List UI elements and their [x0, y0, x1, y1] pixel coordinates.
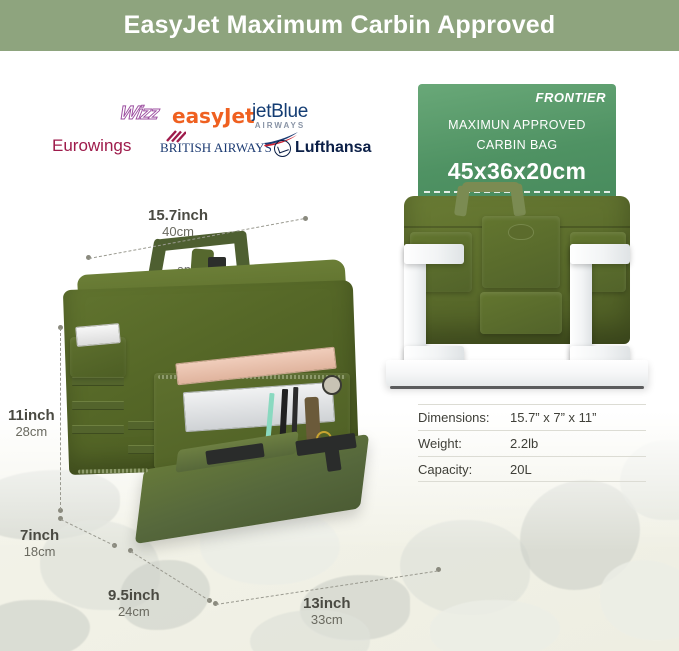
- table-row: Capacity: 20L: [418, 456, 646, 482]
- bag-molle-webbing-row: [72, 377, 124, 386]
- dimension-cm-value: 40cm: [148, 225, 208, 240]
- jetblue-logo: jetBlue AIRWAYS: [252, 101, 308, 130]
- wizz-air-logo: Wizz: [118, 103, 161, 125]
- bag-in-sizer-illustration: [404, 196, 630, 344]
- jetblue-logo-label: jetBlue: [252, 101, 308, 123]
- airline-logos-group: Wizz easyJet jetBlue AIRWAYS Eurowings B…: [52, 98, 372, 190]
- frontier-brand-logo: FRONTIER: [536, 90, 606, 105]
- dimension-inch-value: 9.5inch: [108, 588, 160, 605]
- product-infographic: EasyJet Maximum Carbin Approved Wizz eas…: [0, 0, 679, 651]
- sizer-frame-right-top-arm: [570, 244, 630, 264]
- eurowings-logo: Eurowings: [52, 136, 131, 156]
- spec-key: Dimensions:: [418, 410, 510, 425]
- spec-key: Capacity:: [418, 462, 510, 477]
- dimension-line-height: [60, 328, 61, 510]
- dimension-label-length: 13inch 33cm: [303, 596, 351, 627]
- dimension-dot: [303, 216, 308, 221]
- bag-bottom-zipper: [78, 468, 148, 473]
- dimension-label-width: 15.7inch 40cm: [148, 208, 208, 239]
- table-row: Dimensions: 15.7” x 7” x 11”: [418, 404, 646, 430]
- dimension-label-depth: 7inch 18cm: [20, 528, 59, 559]
- frontier-sign-line1: MAXIMUN APPROVED: [418, 118, 616, 132]
- dimension-inch-value: 15.7inch: [148, 208, 208, 225]
- specifications-table: Dimensions: 15.7” x 7” x 11” Weight: 2.2…: [418, 404, 646, 482]
- lufthansa-crane-icon: [274, 140, 291, 157]
- packed-watch: [322, 375, 342, 395]
- frontier-sign-line2: CARBIN BAG: [418, 138, 616, 152]
- dimension-label-height: 11inch 28cm: [8, 408, 55, 439]
- dimension-inch-value: 7inch: [20, 528, 59, 545]
- lufthansa-logo-label: Lufthansa: [295, 139, 371, 157]
- dimension-label-diagonal: 9.5inch 24cm: [108, 588, 160, 619]
- dimension-cm-value: 18cm: [20, 545, 59, 560]
- british-airways-logo: BRITISH AIRWAYS: [160, 140, 272, 156]
- header-banner: EasyJet Maximum Carbin Approved: [0, 0, 679, 51]
- bag-front-view-illustration: [58, 225, 378, 545]
- packed-phone: [75, 323, 121, 347]
- bag-molle-webbing-row: [72, 401, 124, 410]
- spec-key: Weight:: [418, 436, 510, 451]
- easyjet-logo: easyJet: [172, 104, 255, 128]
- sizer-bag-handle-bridge: [462, 182, 520, 192]
- dimension-cm-value: 28cm: [8, 425, 55, 440]
- table-row: Weight: 2.2lb: [418, 430, 646, 456]
- sizer-bag-logo-badge: [508, 224, 534, 240]
- page-title: EasyJet Maximum Carbin Approved: [124, 11, 556, 40]
- spec-value: 2.2lb: [510, 436, 646, 451]
- dimension-inch-value: 13inch: [303, 596, 351, 613]
- spec-value: 15.7” x 7” x 11”: [510, 410, 646, 425]
- dimension-inch-value: 11inch: [8, 408, 55, 425]
- sizer-base-platform: [386, 360, 648, 386]
- jetblue-logo-sublabel: AIRWAYS: [252, 121, 308, 130]
- frontier-sign-size: 45x36x20cm: [418, 158, 616, 185]
- spec-value: 20L: [510, 462, 646, 477]
- dimension-cm-value: 24cm: [108, 605, 160, 620]
- bag-molle-webbing-row: [72, 425, 124, 434]
- dimension-cm-value: 33cm: [303, 613, 351, 628]
- lufthansa-logo: Lufthansa: [274, 139, 371, 157]
- sizer-bag-bottom-pocket: [480, 292, 562, 334]
- sizer-frame-left-top-arm: [404, 244, 464, 264]
